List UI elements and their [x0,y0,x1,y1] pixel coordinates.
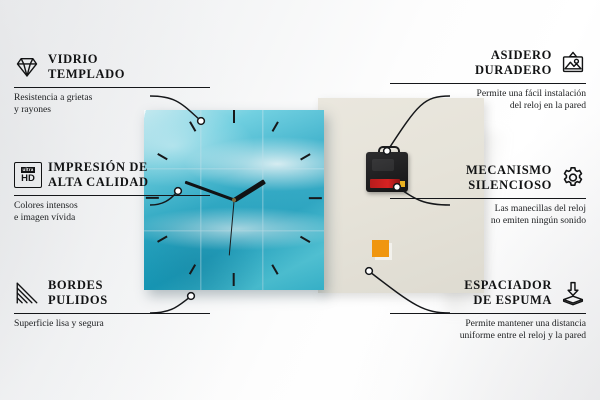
feature-description: Colores intensos e imagen vívida [14,200,210,226]
feature-description: Las manecillas del reloj no emiten ningú… [390,203,586,229]
feature-vidrio-templado: VIDRIO TEMPLADO Resistencia a grietas y … [14,52,210,117]
diamond-icon [14,54,40,80]
feature-mecanismo-silencioso: MECANISMO SILENCIOSO Las manecillas del … [390,163,586,228]
clock-center-pin [232,198,236,202]
feature-divider [390,83,586,84]
feature-description: Resistencia a grietas y rayones [14,92,210,118]
feature-header: ultra HD IMPRESIÓN DE ALTA CALIDAD [14,160,210,191]
feature-title: BORDES PULIDOS [48,278,108,309]
feature-divider [14,313,210,314]
feature-title: VIDRIO TEMPLADO [48,52,125,83]
feature-header: BORDES PULIDOS [14,278,210,309]
feature-title: IMPRESIÓN DE ALTA CALIDAD [48,160,149,191]
gear-icon [560,165,586,191]
feature-divider [390,313,586,314]
feature-description: Permite una fácil instalación del reloj … [390,88,586,114]
infographic-canvas: VIDRIO TEMPLADO Resistencia a grietas y … [0,0,600,400]
feature-impresion-alta-calidad: ultra HD IMPRESIÓN DE ALTA CALIDAD Color… [14,160,210,225]
feature-bordes-pulidos: BORDES PULIDOS Superficie lisa y segura [14,278,210,330]
arrow-stack-icon [560,280,586,306]
picture-frame-icon [560,50,586,76]
feature-header: VIDRIO TEMPLADO [14,52,210,83]
feature-title: ESPACIADOR DE ESPUMA [464,278,552,309]
feature-header: ASIDERO DURADERO [390,48,586,79]
feature-divider [390,198,586,199]
feature-espaciador-espuma: ESPACIADOR DE ESPUMA Permite mantener un… [390,278,586,343]
clock-tick [233,110,235,198]
diagonal-lines-icon [14,280,40,306]
feature-divider [14,195,210,196]
feature-header: MECANISMO SILENCIOSO [390,163,586,194]
clock-tick [234,197,322,199]
feature-header: ESPACIADOR DE ESPUMA [390,278,586,309]
feature-description: Permite mantener una distancia uniforme … [390,318,586,344]
feature-title: ASIDERO DURADERO [475,48,552,79]
feature-divider [14,87,210,88]
feature-title: MECANISMO SILENCIOSO [466,163,552,194]
ultra-hd-icon: ultra HD [14,162,40,188]
feature-asidero-duradero: ASIDERO DURADERO Permite una fácil insta… [390,48,586,113]
feature-description: Superficie lisa y segura [14,318,210,331]
foam-spacer [372,240,389,257]
